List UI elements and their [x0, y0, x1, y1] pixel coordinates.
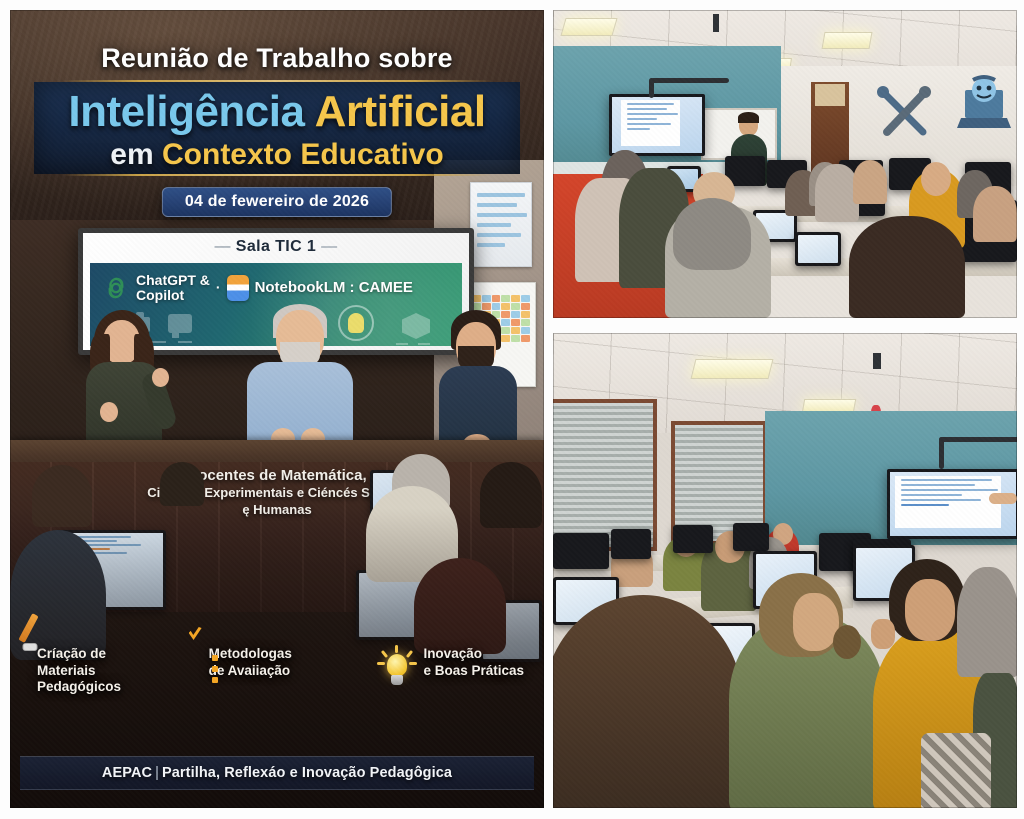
foreground-person-olive-hairtie — [833, 625, 861, 659]
ceiling-light-1 — [691, 359, 774, 379]
lightbulb-icon — [378, 646, 416, 692]
photo-bottom-scene — [553, 333, 1017, 808]
ceiling-conduit — [939, 437, 1017, 442]
gold-divider-bottom — [62, 174, 492, 176]
room-label: — Sala TIC 1 — — [83, 238, 469, 256]
presenter-left — [72, 310, 192, 460]
audience-head-5 — [414, 558, 506, 654]
badge-item: Metodologas de Avaiiação — [202, 646, 292, 679]
bulb-ray-3 — [406, 650, 413, 658]
brand-chatgpt-label: ChatGPT & Copilot — [136, 273, 210, 302]
presenter-left-hand-1 — [152, 368, 169, 387]
badge-label-1: Críação de Materiais Pedagógicos — [37, 646, 121, 696]
footer-text: AEPAC|Partilha, Reflexáo e Inovação Peda… — [102, 765, 452, 781]
footer-tagline: Partilha, Reflexáo e Inovação Pedagôgica — [162, 765, 452, 781]
audience-head-6 — [480, 462, 542, 528]
ceiling-light-1 — [560, 18, 617, 36]
attendee-11 — [973, 186, 1017, 242]
chatgpt-logo-icon — [102, 274, 130, 302]
wrench-screwdriver-graphic — [869, 86, 941, 140]
presenter-pointing-hand — [989, 493, 1017, 504]
title-word-em: em — [110, 138, 153, 171]
audience-head-1 — [32, 465, 92, 527]
footer-separator: | — [152, 765, 162, 781]
bulb-ray-4 — [377, 662, 385, 665]
screen-document — [621, 100, 681, 146]
audience-head-7 — [160, 462, 204, 506]
foreground-person-mustard-face — [905, 579, 955, 641]
brand-separator: · — [216, 280, 221, 295]
photo-collage: Reunião de Trabalho sobre Inteligência A… — [0, 0, 1024, 819]
attendee-mustard-head — [921, 162, 951, 196]
brand-row: ChatGPT & Copilot · NotebookLM : CAMEE — [102, 273, 413, 302]
attendee-4-hair — [673, 198, 751, 270]
presenter-right — [425, 310, 540, 460]
photo-bottom-panel — [553, 333, 1017, 808]
bulb-ray-2 — [381, 650, 388, 658]
title-word-inteligencia: Inteligência — [68, 87, 304, 136]
checklist-box-2 — [212, 666, 218, 672]
brand-notebooklm-label: NotebookLM : CAMEE — [255, 279, 413, 296]
badge-label-2: Metodologas de Avaiiação — [209, 646, 292, 679]
feature-badges: Críação de Materiais Pedagógicos — [30, 646, 530, 716]
poster-title-line-2: Inteligência Artificial — [10, 90, 544, 134]
conduit-elbow — [649, 78, 654, 98]
badge-item: Críação de Materiais Pedagógicos — [30, 646, 121, 696]
foreground-person-mustard-hand — [871, 619, 895, 649]
poster-title-line-1: Reunião de Trabalho sobre — [10, 43, 544, 74]
attendee-8 — [853, 160, 887, 204]
laptop-screen-2 — [795, 232, 841, 266]
laptop-mascot-graphic — [953, 74, 1015, 136]
presenter-left-hand-2 — [100, 402, 118, 422]
room-label-text: Sala TIC 1 — [236, 238, 316, 255]
bulb-glass — [387, 654, 407, 676]
wall-chart-poster — [470, 182, 532, 267]
audience-line-1: Docentes de Matemática, — [10, 466, 544, 485]
desk-monitor-1 — [553, 533, 609, 569]
checklist-box-1 — [212, 655, 218, 661]
conduit-elbow — [939, 437, 944, 469]
clipboard-clip — [23, 643, 38, 651]
notebooklm-logo-icon — [227, 275, 249, 301]
presenter-hair — [738, 112, 759, 123]
badge-item: Inovação e Boas Práticas — [378, 646, 524, 692]
photo-top-panel — [553, 10, 1017, 318]
dash-right: — — [321, 238, 337, 255]
title-word-artificial: Artificial — [315, 87, 486, 136]
ceiling-projector-mount — [873, 353, 881, 369]
plaid-chair-back — [921, 733, 991, 808]
event-date-badge: 04 de fewereiro de 2026 — [162, 187, 392, 217]
event-poster: Reunião de Trabalho sobre Inteligência A… — [10, 10, 544, 808]
dash-left: — — [214, 238, 230, 255]
poster-title-line-3: em Contexto Educativo — [10, 140, 544, 170]
desk-monitor-4 — [733, 523, 769, 551]
badge-label-3: Inovação e Boas Práticas — [423, 646, 524, 679]
ceiling-projector-mount — [713, 14, 719, 32]
projector-screen — [887, 469, 1017, 539]
attendee-10 — [849, 216, 965, 318]
bulb-base — [391, 675, 403, 685]
footer-org: AEPAC — [102, 765, 152, 781]
projector-screen — [609, 94, 705, 156]
desk-monitor-3 — [673, 525, 713, 553]
bulb-ray-5 — [409, 662, 417, 665]
photo-top-scene — [553, 10, 1017, 318]
glyph-dash-4 — [396, 343, 408, 345]
checklist-box-3 — [212, 677, 218, 683]
ceiling-light-2 — [822, 32, 873, 49]
bulb-ray-1 — [395, 645, 398, 653]
checkmark-shape — [189, 627, 202, 640]
poster-footer: AEPAC|Partilha, Reflexáo e Inovação Peda… — [20, 756, 534, 790]
poster-panel: Reunião de Trabalho sobre Inteligência A… — [10, 10, 544, 808]
foreground-long-hair-person — [553, 595, 743, 808]
ceiling-conduit — [651, 78, 729, 83]
screen-document — [895, 476, 1001, 528]
title-word-contexto-educativo: Contexto Educativo — [162, 138, 444, 171]
desk-monitor-2 — [611, 529, 651, 559]
right-edge-person-gray — [957, 567, 1017, 677]
door-transom — [815, 84, 845, 106]
